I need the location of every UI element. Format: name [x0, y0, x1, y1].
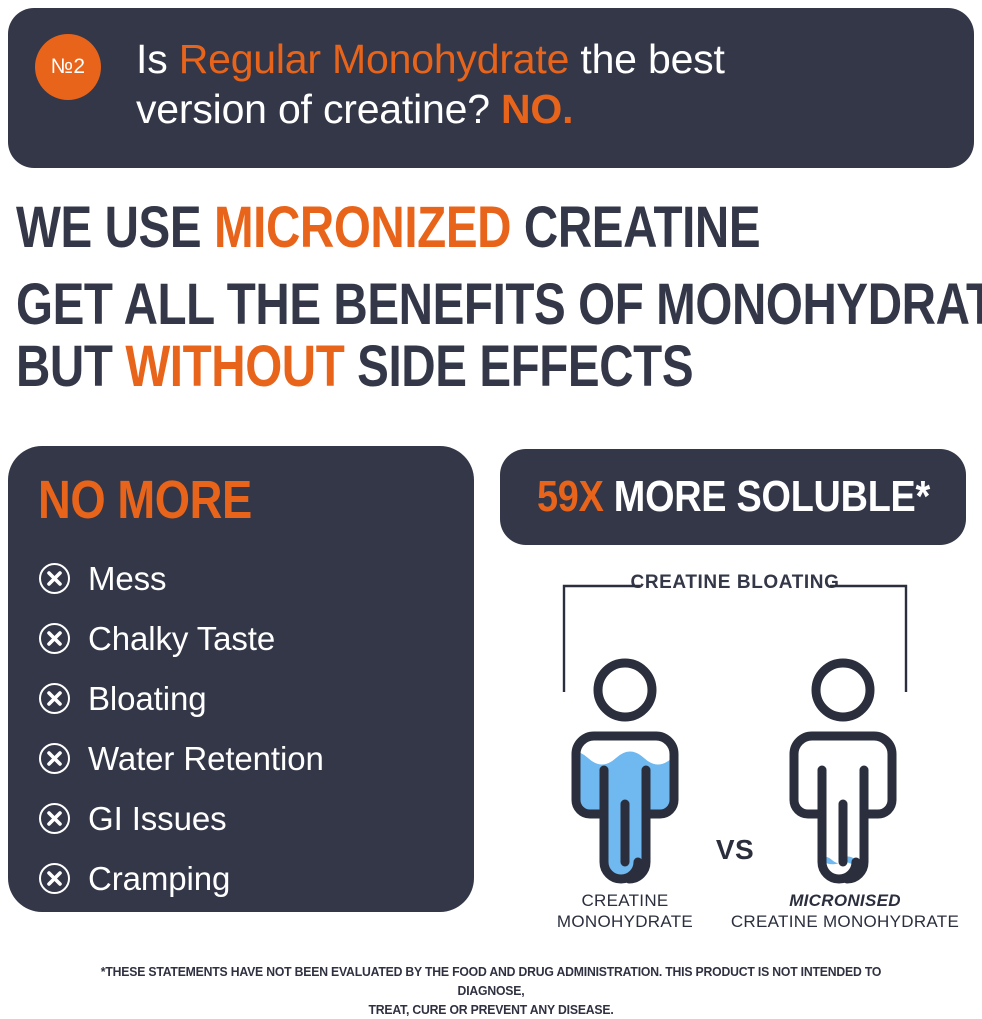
hero-line1-part1: Is [136, 36, 179, 82]
x-circle-icon [38, 622, 71, 655]
person-bloated-icon [550, 654, 700, 884]
caption-right: MICRONISED CREATINE MONOHYDRATE [730, 890, 960, 932]
step-number-badge: №2 [35, 34, 101, 100]
hero-line2-part2: . [562, 86, 573, 132]
x-circle-icon [38, 802, 71, 835]
headline1-part2: CREATINE [511, 195, 760, 260]
caption-left-line1: CREATINE [581, 891, 668, 910]
figure-micronised-creatine-monohydrate [768, 654, 918, 884]
headline-line-3: BUT WITHOUT SIDE EFFECTS [16, 336, 795, 398]
headline1-part1: WE USE [16, 195, 214, 260]
list-item-label: GI Issues [88, 802, 226, 835]
headline-line-1: WE USE MICRONIZED CREATINE [16, 196, 795, 260]
no-more-panel: NO MORE Mess Chalky Taste [8, 446, 474, 912]
step-number-label: №2 [51, 55, 86, 79]
caption-left: CREATINE MONOHYDRATE [510, 890, 740, 932]
person-lean-icon [768, 654, 918, 884]
list-item: Mess [38, 548, 444, 608]
figure-captions-row: CREATINE MONOHYDRATE MICRONISED CREATINE… [500, 890, 970, 942]
disclaimer-line-2: TREAT, CURE OR PREVENT ANY DISEASE. [368, 1002, 613, 1017]
hero-line2-part1: version of creatine? [136, 86, 501, 132]
hero-line2-highlight: NO [501, 86, 562, 132]
list-item: Cramping [38, 848, 444, 908]
caption-left-line2: MONOHYDRATE [557, 912, 693, 931]
bloating-comparison-diagram: CREATINE BLOATING [500, 572, 970, 942]
caption-right-emphasis: MICRONISED [730, 890, 960, 911]
list-item: Bloating [38, 668, 444, 728]
hero-line1-part2: the best [569, 36, 724, 82]
soluble-claim-text: 59X MORE SOLUBLE* [536, 472, 929, 522]
x-circle-icon [38, 562, 71, 595]
hero-question-text: Is Regular Monohydrate the best version … [136, 34, 948, 134]
list-item: Water Retention [38, 728, 444, 788]
x-circle-icon [38, 862, 71, 895]
headline3-part1: BUT [16, 334, 125, 399]
x-circle-icon [38, 742, 71, 775]
list-item: GI Issues [38, 788, 444, 848]
headline-line-2: GET ALL THE BENEFITS OF MONOHYDRATE, [16, 274, 795, 336]
soluble-multiplier: 59X [536, 472, 603, 521]
caption-right-rest: CREATINE MONOHYDRATE [730, 911, 960, 932]
headline3-part2: SIDE EFFECTS [344, 334, 693, 399]
list-item-label: Chalky Taste [88, 622, 275, 655]
headline1-highlight: MICRONIZED [214, 195, 511, 260]
no-more-list: Mess Chalky Taste Bloating [38, 548, 444, 908]
figure-creatine-monohydrate [550, 654, 700, 884]
figures-row: VS [500, 654, 970, 884]
vs-label: VS [705, 834, 765, 866]
hero-question-bar: №2 Is Regular Monohydrate the best versi… [8, 8, 974, 168]
hero-line1-highlight: Regular Monohydrate [179, 36, 570, 82]
list-item-label: Mess [88, 562, 166, 595]
soluble-claim-bar: 59X MORE SOLUBLE* [500, 449, 966, 545]
main-headline-block: WE USE MICRONIZED CREATINE GET ALL THE B… [16, 196, 966, 398]
list-item-label: Water Retention [88, 742, 324, 775]
list-item: Chalky Taste [38, 608, 444, 668]
soluble-rest: MORE SOLUBLE* [603, 472, 929, 521]
list-item-label: Bloating [88, 682, 206, 715]
disclaimer-line-1: *THESE STATEMENTS HAVE NOT BEEN EVALUATE… [101, 964, 881, 998]
headline3-highlight: WITHOUT [125, 334, 344, 399]
no-more-title: NO MORE [38, 472, 379, 528]
x-circle-icon [38, 682, 71, 715]
footer-disclaimer: *THESE STATEMENTS HAVE NOT BEEN EVALUATE… [67, 962, 915, 1019]
list-item-label: Cramping [88, 862, 230, 895]
